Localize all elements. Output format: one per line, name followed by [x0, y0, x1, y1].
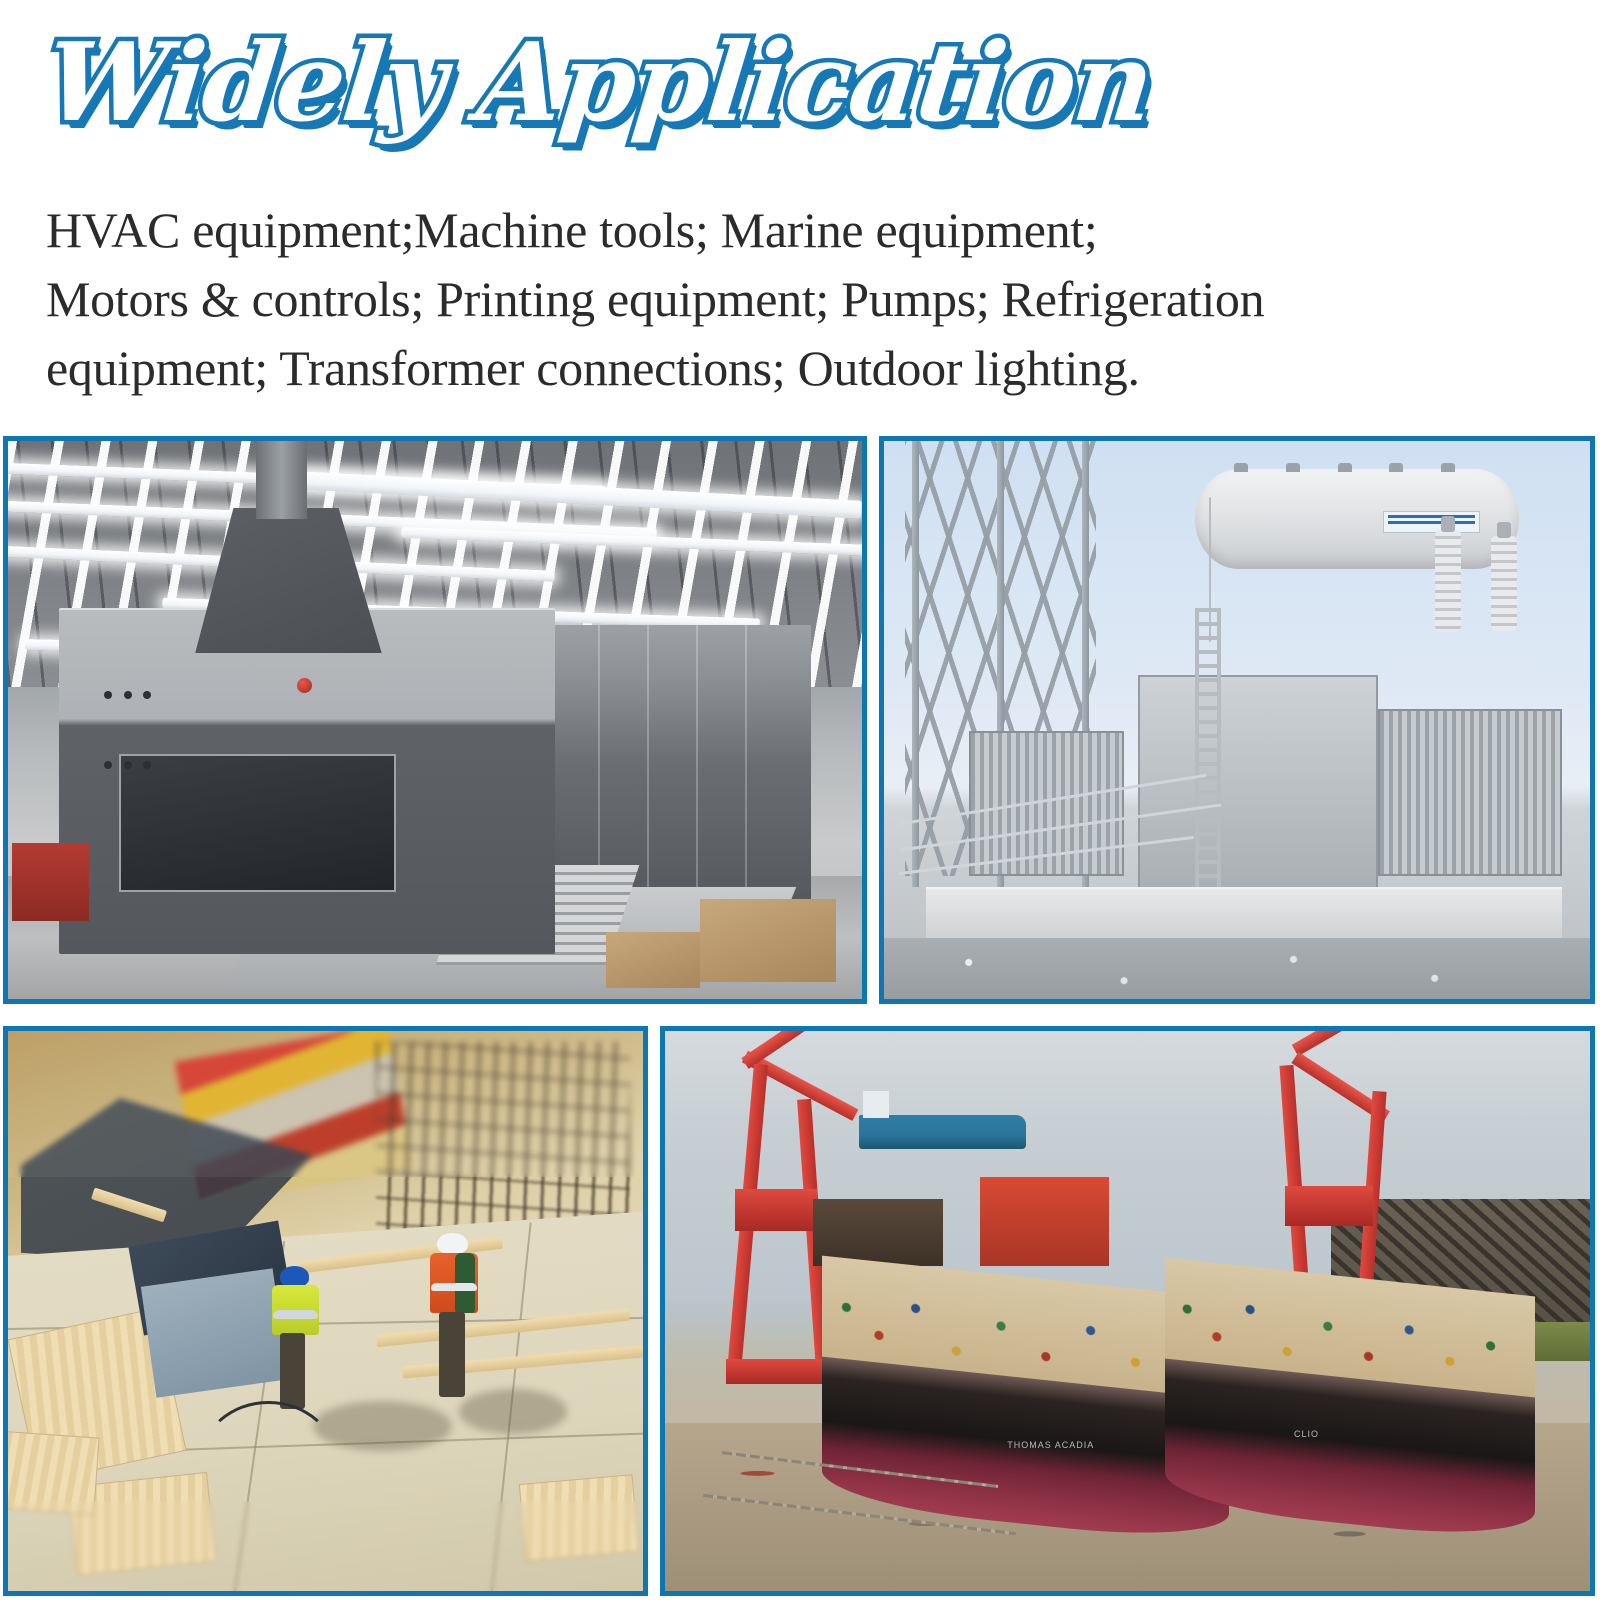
worker-standing [427, 1233, 491, 1401]
transformer-nameplate [1383, 511, 1480, 533]
press-emergency-stop-button [297, 678, 312, 693]
ship-name-right: CLIO [1294, 1429, 1319, 1439]
power-transformer-photo [884, 441, 1590, 999]
table-saw [141, 1269, 289, 1398]
page-title: Widely Application [40, 18, 1254, 148]
conservator-tank [1195, 469, 1520, 569]
cardboard-stack [700, 899, 837, 983]
transformer-main-tank [1138, 675, 1378, 898]
hv-bushing [1491, 536, 1517, 631]
application-line-2: Motors & controls; Printing equipment; P… [46, 265, 1526, 334]
white-hard-hat [437, 1233, 467, 1255]
access-ladder [1195, 608, 1221, 898]
gallery-image-construction-site [3, 1026, 648, 1596]
press-viewing-window [119, 754, 396, 892]
press-exhaust-duct [256, 441, 307, 519]
cardboard-stack [606, 932, 700, 988]
page-title-container: Widely Application [40, 18, 1240, 168]
blue-hard-hat [280, 1266, 309, 1286]
application-list-text: HVAC equipment;Machine tools; Marine equ… [46, 196, 1526, 403]
gravel-ground [884, 938, 1590, 999]
worker-shadow [459, 1389, 567, 1434]
tilt-shift-blur-top [8, 1031, 643, 1177]
printing-press-photo [8, 441, 862, 999]
gallery-image-printing-press [3, 436, 867, 1004]
shipyard-photo: THOMAS ACADIA CLIO [665, 1031, 1590, 1591]
cooling-radiator [1378, 709, 1562, 876]
gallery-image-power-transformer [879, 436, 1595, 1004]
red-pallet-cart [12, 843, 89, 921]
application-image-gallery: THOMAS ACADIA CLIO [0, 432, 1600, 1600]
press-main-body [59, 608, 554, 954]
worker-with-saw [268, 1266, 332, 1412]
ship-name-left: THOMAS ACADIA [1007, 1440, 1094, 1450]
tilt-shift-blur-bottom [8, 1501, 643, 1591]
hv-bushing [1435, 530, 1461, 630]
dropper-wire [1209, 497, 1211, 642]
application-line-1: HVAC equipment;Machine tools; Marine equ… [46, 196, 1526, 265]
ship-block-superstructure [980, 1177, 1110, 1267]
gallery-image-shipyard: THOMAS ACADIA CLIO [660, 1026, 1595, 1596]
widely-application-banner: Widely Application HVAC equipment;Machin… [0, 0, 1600, 1600]
application-line-3: equipment; Transformer connections; Outd… [46, 334, 1526, 403]
construction-site-photo [8, 1031, 643, 1591]
